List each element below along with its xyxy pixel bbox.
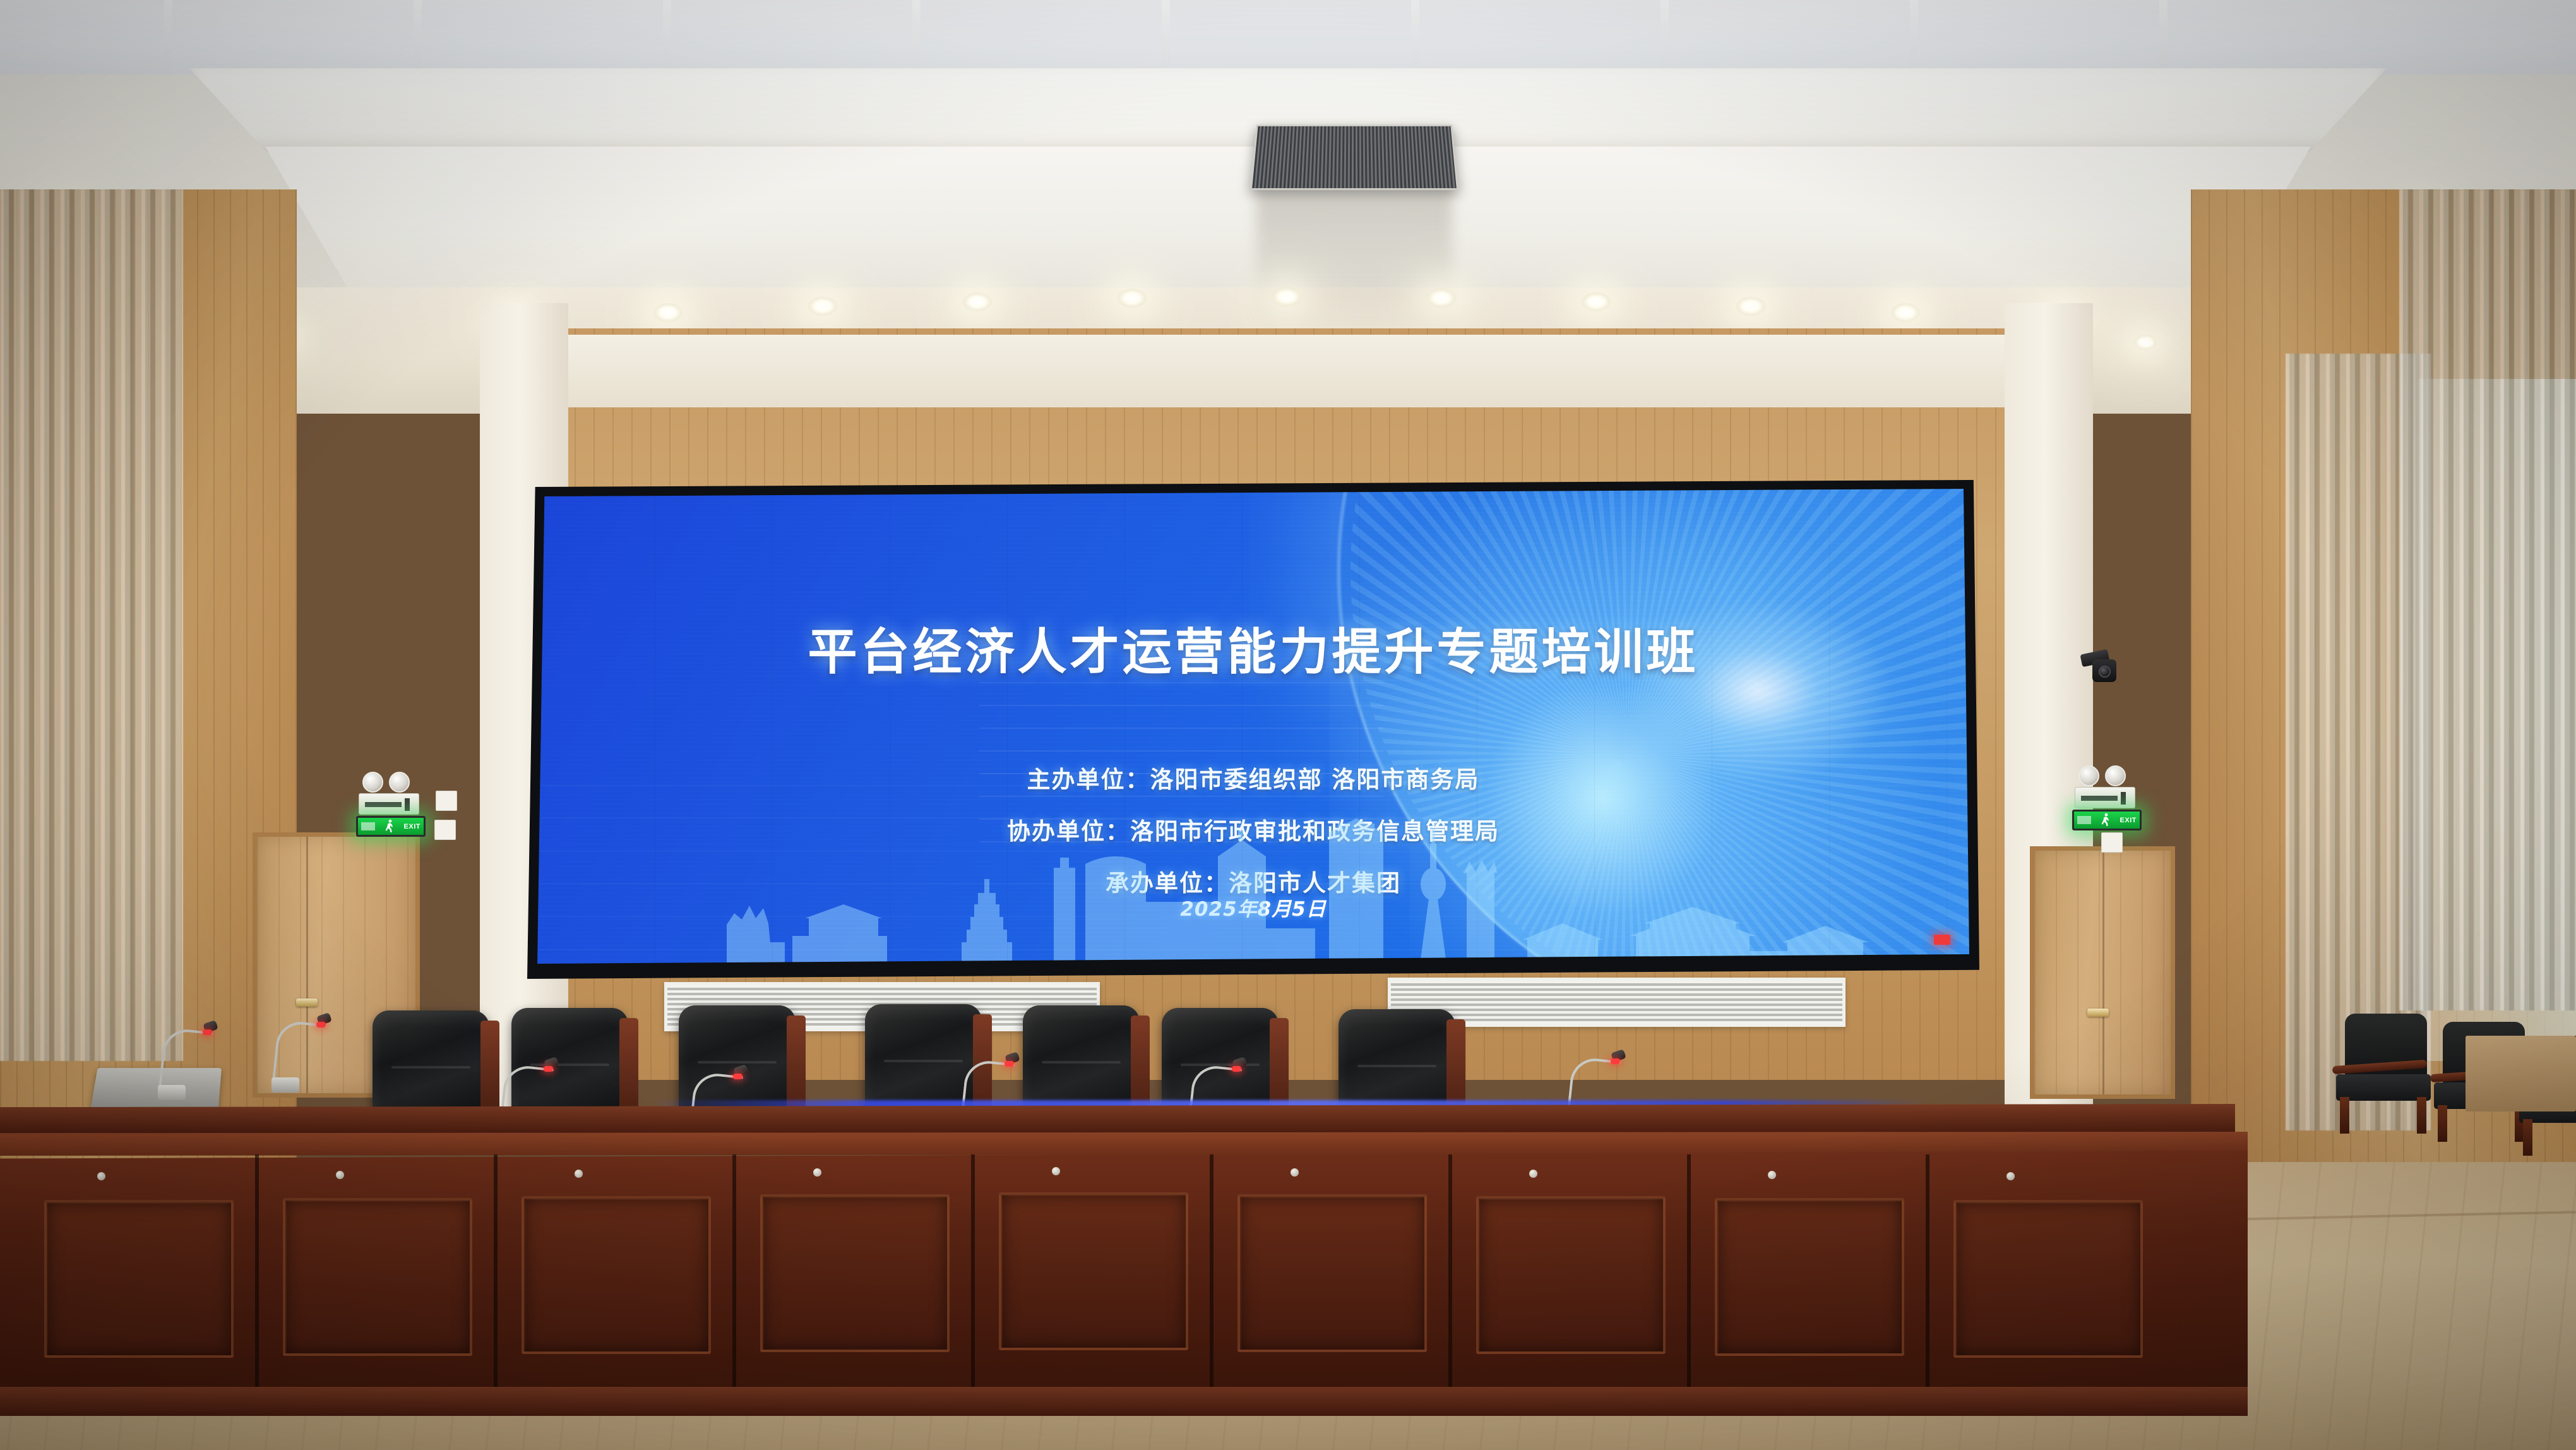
mic-base — [158, 1085, 186, 1100]
chair-leg — [2340, 1097, 2349, 1134]
dais-raised-panel — [999, 1192, 1188, 1350]
dais-base-molding — [0, 1387, 2248, 1416]
door-handle-icon[interactable] — [296, 998, 318, 1007]
dais-fastener — [813, 1168, 821, 1177]
dais-fastener — [97, 1172, 105, 1180]
dais-panel-divider — [971, 1154, 975, 1413]
downlight-icon — [1272, 287, 1301, 306]
skylight-rib — [164, 0, 172, 75]
door-handle-icon[interactable] — [2087, 1009, 2109, 1017]
exit-arrow-icon — [2077, 816, 2091, 824]
dais-panel-divider — [1210, 1154, 1213, 1413]
mic-stem — [158, 1027, 213, 1092]
gooseneck-microphone[interactable] — [271, 1017, 330, 1093]
emergency-light-unit-right: EXIT — [2070, 765, 2144, 831]
emergency-lamps — [362, 772, 410, 793]
skylight-rib — [912, 0, 921, 75]
door-seam — [2102, 851, 2104, 1094]
mic-active-indicator — [1611, 1058, 1620, 1064]
chair-crease — [884, 1060, 963, 1062]
emergency-lamp-icon — [389, 772, 410, 793]
mic-stem — [272, 1019, 326, 1084]
camera-lens-icon — [2099, 666, 2111, 678]
exit-arrow-icon — [361, 822, 375, 830]
emergency-lamp-icon — [2078, 765, 2099, 786]
skylight-rib — [1910, 0, 1918, 75]
led-display-bezel[interactable]: 平台经济人才运营能力提升专题培训班 主办单位：洛阳市委组织部 洛阳市商务局 协办… — [527, 480, 1979, 979]
exit-sign-left: EXIT — [356, 816, 426, 837]
conference-room-photo: 平台经济人才运营能力提升专题培训班 主办单位：洛阳市委组织部 洛阳市商务局 协办… — [0, 0, 2576, 1450]
emergency-lamps — [2078, 765, 2126, 786]
downlight-icon — [653, 303, 683, 322]
curtain-left — [0, 189, 183, 1061]
downlight-icon — [963, 292, 992, 311]
ceiling-hvac-vent-icon — [1250, 124, 1458, 189]
chair-leg — [2523, 1119, 2532, 1156]
dais-raised-panel — [1476, 1196, 1666, 1354]
led-module-seams — [537, 489, 1969, 964]
downlight-icon — [2134, 335, 2157, 350]
chair-wood-trim — [787, 1016, 806, 1110]
running-man-icon — [2099, 813, 2112, 827]
dais-panel-divider — [494, 1154, 498, 1413]
dais-fastener — [575, 1170, 583, 1178]
curtain-right-outer — [2399, 189, 2576, 1010]
led-display-screen[interactable]: 平台经济人才运营能力提升专题培训班 主办单位：洛阳市委组织部 洛阳市商务局 协办… — [537, 489, 1969, 964]
mic-active-indicator — [316, 1022, 326, 1028]
mic-base — [271, 1077, 299, 1093]
emergency-battery-box — [2075, 787, 2135, 808]
chair-wood-trim — [480, 1021, 499, 1115]
dais-fastener — [2007, 1172, 2015, 1180]
chair-wood-trim — [1270, 1018, 1289, 1113]
ptz-camera-icon — [2081, 648, 2119, 685]
downlight-icon — [1736, 297, 1765, 316]
dais-panel-divider — [732, 1154, 736, 1413]
emergency-lamp-icon — [2105, 765, 2126, 786]
dais-raised-panel — [1237, 1194, 1427, 1352]
dais-panel-divider — [1687, 1154, 1691, 1413]
dais-raised-panel — [760, 1194, 950, 1352]
dais-desktop — [0, 1104, 2235, 1137]
gooseneck-microphone[interactable] — [158, 1024, 216, 1100]
stage-header-band — [499, 335, 2058, 407]
dais-fastener — [1768, 1171, 1776, 1179]
chair-crease — [1357, 1065, 1437, 1067]
hvac-vent-shadow — [1256, 189, 1452, 335]
wall-plate-left — [436, 791, 457, 811]
wall-plate-left-2 — [434, 820, 456, 840]
dais-raised-panel — [44, 1200, 234, 1358]
executive-chair[interactable] — [1023, 1005, 1140, 1116]
chair-crease — [391, 1066, 471, 1069]
skylight-rib — [1411, 0, 1419, 75]
dais-fastener — [1529, 1170, 1537, 1178]
mic-active-indicator — [1005, 1061, 1014, 1067]
led-power-indicator-icon — [1934, 935, 1950, 945]
side-chair[interactable] — [2336, 1014, 2431, 1134]
downlight-icon — [1891, 303, 1920, 322]
downlight-icon — [808, 297, 837, 316]
chair-wood-trim — [619, 1018, 638, 1113]
emergency-battery-box — [359, 793, 419, 815]
chair-wood-trim — [1131, 1016, 1150, 1110]
wall-plate-right — [2101, 832, 2123, 853]
chair-leg — [2438, 1105, 2447, 1142]
skylight-rib — [1661, 0, 1669, 75]
mic-active-indicator — [1232, 1066, 1241, 1072]
skylight-rib — [414, 0, 422, 75]
dais-fastener — [1052, 1167, 1060, 1175]
camera-head — [2092, 659, 2116, 682]
side-table — [2466, 1036, 2576, 1111]
dais-raised-panel — [1715, 1198, 1904, 1356]
executive-chair[interactable] — [373, 1010, 489, 1121]
skylight-rib — [2159, 0, 2168, 75]
exit-sign-right: EXIT — [2072, 810, 2142, 830]
door-right[interactable] — [2030, 846, 2175, 1099]
emergency-lamp-icon — [362, 772, 383, 793]
skylight-rib — [663, 0, 671, 75]
dais-fastener — [1291, 1168, 1299, 1177]
downlight-icon — [1582, 292, 1611, 311]
dais-raised-panel — [1953, 1200, 2143, 1358]
emergency-light-unit-left: EXIT — [354, 772, 428, 837]
exit-sign-label: EXIT — [2120, 817, 2137, 824]
chair-leg — [2417, 1097, 2426, 1134]
running-man-icon — [383, 819, 396, 834]
skylight-panel — [0, 0, 2576, 75]
chair-crease — [698, 1061, 777, 1064]
dais-panel-divider — [1448, 1154, 1452, 1413]
mic-active-indicator — [544, 1066, 553, 1072]
skylight-rib — [1162, 0, 1170, 75]
exit-sign-label: EXIT — [404, 823, 420, 830]
mic-active-indicator — [203, 1029, 212, 1035]
dais-panel-divider — [1926, 1154, 1929, 1413]
dais-panel-divider — [255, 1154, 259, 1413]
dais-raised-panel — [522, 1196, 711, 1354]
dais-raised-panel — [283, 1198, 472, 1356]
chair-crease — [1042, 1061, 1121, 1064]
mic-active-indicator — [733, 1074, 742, 1079]
dais-fastener — [336, 1171, 344, 1179]
